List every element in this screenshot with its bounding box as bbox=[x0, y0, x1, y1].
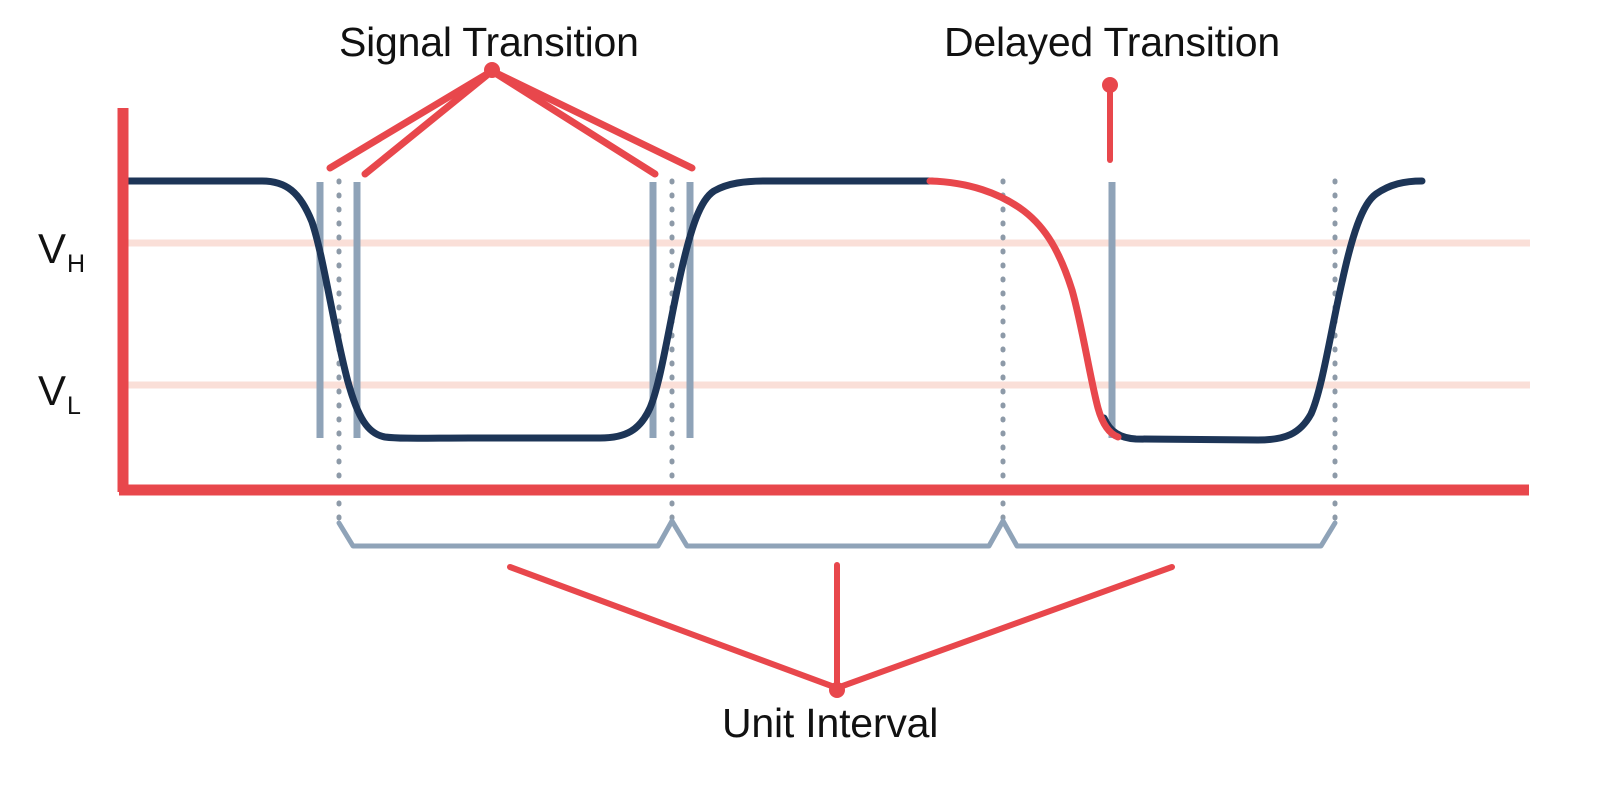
diagram-canvas: Signal Transition Delayed Transition Uni… bbox=[0, 0, 1607, 808]
transition-window-markers bbox=[320, 182, 1112, 438]
ui-bracket-segment-2 bbox=[672, 521, 1003, 546]
delayed-transition-callout-dot bbox=[1102, 77, 1118, 93]
dotted-boundary-markers bbox=[339, 181, 1335, 518]
ui-bracket-segment-3 bbox=[1003, 521, 1335, 546]
signal-transition-label: Signal Transition bbox=[339, 19, 639, 66]
vh-label-main: V bbox=[38, 225, 66, 272]
eye-diagram-svg bbox=[0, 0, 1607, 808]
vl-label-main: V bbox=[38, 367, 66, 414]
signal-callout-leg-1 bbox=[330, 71, 492, 168]
vl-axis-label: VL bbox=[38, 367, 80, 415]
signal-callout-leg-4 bbox=[492, 71, 692, 168]
vh-label-subscript: H bbox=[67, 250, 85, 278]
delayed-waveform bbox=[930, 181, 1118, 437]
ui-bracket-segment-1 bbox=[339, 521, 672, 546]
unit-interval-callout-dot bbox=[829, 682, 845, 698]
vh-axis-label: VH bbox=[38, 225, 84, 273]
reference-waveform-right bbox=[1104, 181, 1422, 440]
unit-interval-label: Unit Interval bbox=[722, 700, 938, 747]
signal-transition-callout bbox=[330, 71, 692, 174]
unit-interval-callout bbox=[510, 565, 1172, 688]
unit-interval-brackets bbox=[339, 521, 1335, 546]
signal-callout-leg-2 bbox=[365, 71, 492, 174]
delayed-transition-callout bbox=[1102, 77, 1118, 160]
delayed-transition-label: Delayed Transition bbox=[944, 19, 1280, 66]
reference-waveform-left bbox=[123, 181, 932, 438]
vl-label-subscript: L bbox=[67, 392, 81, 420]
unit-interval-leg-left bbox=[510, 567, 837, 688]
unit-interval-leg-right bbox=[837, 567, 1172, 688]
